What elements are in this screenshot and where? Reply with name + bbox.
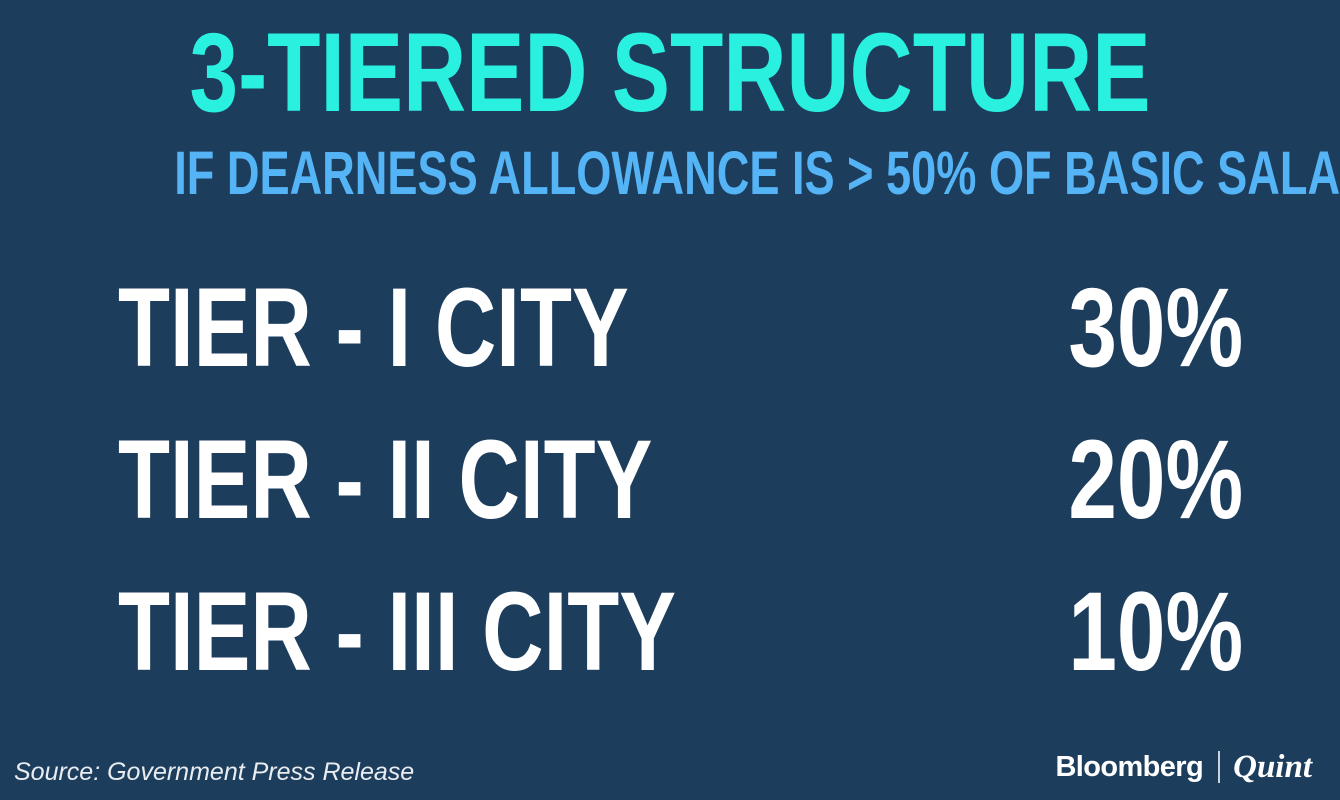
- tier-label: TIER - I CITY: [118, 272, 629, 384]
- table-row: TIER - I CITY 30%: [0, 272, 1340, 424]
- logo-divider: [1218, 751, 1220, 783]
- footer: Source: Government Press Release Bloombe…: [0, 736, 1340, 800]
- table-row: TIER - III CITY 10%: [0, 576, 1340, 728]
- tier-percentage: 20%: [1068, 424, 1243, 536]
- quint-wordmark: Quint: [1233, 750, 1312, 784]
- infographic-card: 3-TIERED STRUCTURE IF DEARNESS ALLOWANCE…: [0, 0, 1340, 800]
- tier-table: TIER - I CITY 30% TIER - II CITY 20% TIE…: [0, 272, 1340, 728]
- bloomberg-wordmark: Bloomberg: [1055, 752, 1203, 782]
- tier-percentage: 30%: [1068, 272, 1243, 384]
- page-subtitle: IF DEARNESS ALLOWANCE IS > 50% OF BASIC …: [174, 140, 1166, 206]
- tier-label: TIER - III CITY: [118, 576, 676, 688]
- page-title: 3-TIERED STRUCTURE: [147, 14, 1192, 132]
- tier-label: TIER - II CITY: [118, 424, 652, 536]
- table-row: TIER - II CITY 20%: [0, 424, 1340, 576]
- bloombergquint-logo: Bloomberg Quint: [1055, 750, 1312, 784]
- source-attribution: Source: Government Press Release: [14, 758, 414, 786]
- tier-percentage: 10%: [1068, 576, 1243, 688]
